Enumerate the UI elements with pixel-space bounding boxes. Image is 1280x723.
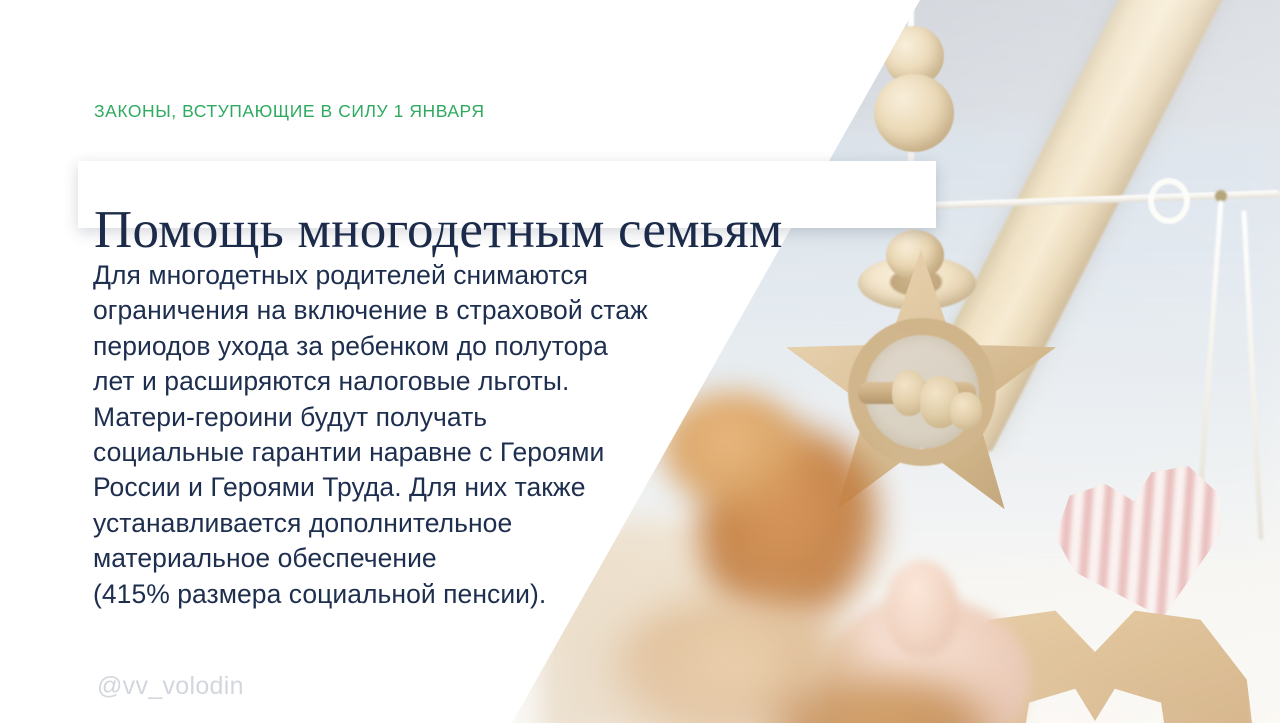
slide-root: ЗАКОНЫ, ВСТУПАЮЩИЕ В СИЛУ 1 ЯНВАРЯ Помощ… (0, 0, 1280, 723)
wooden-bead-second (874, 74, 954, 152)
body-paragraph: Для многодетных родителей снимаются огра… (93, 258, 733, 612)
baby-finger (886, 560, 958, 656)
watermark-handle: @vv_volodin (97, 672, 244, 701)
page-title: Помощь многодетным семьям (94, 197, 936, 264)
eyebrow-label: ЗАКОНЫ, ВСТУПАЮЩИЕ В СИЛУ 1 ЯНВАРЯ (94, 101, 485, 122)
white-cord-knot (1148, 178, 1190, 224)
wooden-rattle-bead-c (950, 392, 982, 430)
